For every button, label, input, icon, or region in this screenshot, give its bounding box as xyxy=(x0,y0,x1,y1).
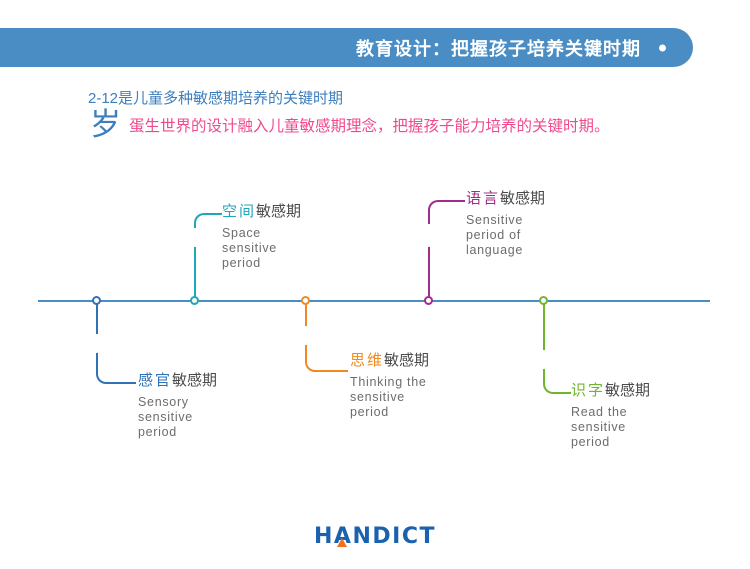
node-2-label-block: 空间敏感期 Space sensitive period xyxy=(222,203,301,271)
node-5-number-badge: 5 xyxy=(534,350,553,369)
node-4-number-badge: 4 xyxy=(419,228,438,247)
node-2-label-en: Space sensitive period xyxy=(222,226,301,271)
logo-triangle-icon xyxy=(337,538,347,547)
page-title: 教育设计：把握孩子培养关键时期 xyxy=(356,35,641,61)
timeline-axis xyxy=(38,300,710,302)
node-1-label-en: Sensory sensitive period xyxy=(138,395,217,440)
intro-row-2: 岁 蛋生世界的设计融入儿童敏感期理念，把握孩子能力培养的关键时期。 xyxy=(90,110,708,140)
infographic-page: 教育设计：把握孩子培养关键时期 2-12是儿童多种敏感期培养的关键时期 岁 蛋生… xyxy=(0,0,750,569)
node-2-label-accent: 空间 xyxy=(222,203,256,220)
node-4-elbow xyxy=(428,200,442,224)
node-3-label-rest: 敏感期 xyxy=(384,352,429,369)
brand-logo-text: HANDICT xyxy=(314,524,436,549)
node-4-runner xyxy=(441,200,465,202)
node-4-number: 4 xyxy=(426,232,432,243)
node-5-runner xyxy=(556,392,571,394)
node-1-label-block: 感官敏感期 Sensory sensitive period xyxy=(138,372,217,440)
node-5-number: 5 xyxy=(541,354,547,365)
node-1-label-rest: 敏感期 xyxy=(172,372,217,389)
node-3-runner xyxy=(318,370,348,372)
node-5-label-cn: 识字敏感期 xyxy=(571,382,650,400)
node-3-label-en: Thinking the sensitive period xyxy=(350,375,429,420)
node-5-elbow xyxy=(543,370,557,394)
node-5-label-rest: 敏感期 xyxy=(605,382,650,399)
node-2-label-rest: 敏感期 xyxy=(256,203,301,220)
intro-line-1: 2-12是儿童多种敏感期培养的关键时期 xyxy=(88,88,708,110)
node-3-label-cn: 思维敏感期 xyxy=(350,352,429,370)
node-2-stem xyxy=(194,240,196,298)
node-1-number-badge: 1 xyxy=(87,334,106,353)
node-3-number-badge: 3 xyxy=(296,326,315,345)
node-1-runner xyxy=(109,382,136,384)
age-unit-label: 岁 xyxy=(90,110,121,140)
node-4-label-block: 语言敏感期 Sensitive period of language xyxy=(466,190,545,258)
node-4-label-rest: 敏感期 xyxy=(500,190,545,207)
node-1-label-accent: 感官 xyxy=(138,372,172,389)
node-2-number-badge: 2 xyxy=(185,228,204,247)
node-1-elbow xyxy=(96,360,110,384)
node-4-label-en: Sensitive period of language xyxy=(466,213,545,258)
intro-line-2: 蛋生世界的设计融入儿童敏感期理念，把握孩子能力培养的关键时期。 xyxy=(129,114,610,140)
header-banner: 教育设计：把握孩子培养关键时期 xyxy=(0,28,693,67)
node-3-elbow xyxy=(305,348,319,372)
node-1-label-cn: 感官敏感期 xyxy=(138,372,217,390)
node-2-number: 2 xyxy=(192,232,198,243)
node-2-runner xyxy=(207,213,222,215)
footer-logo: HANDICT xyxy=(0,524,750,549)
node-3-label-accent: 思维 xyxy=(350,352,384,369)
node-2-label-cn: 空间敏感期 xyxy=(222,203,301,221)
intro-block: 2-12是儿童多种敏感期培养的关键时期 岁 蛋生世界的设计融入儿童敏感期理念，把… xyxy=(88,88,708,140)
node-5-label-accent: 识字 xyxy=(571,382,605,399)
node-3-number: 3 xyxy=(303,330,309,341)
node-5-label-en: Read the sensitive period xyxy=(571,405,650,450)
node-4-label-cn: 语言敏感期 xyxy=(466,190,545,208)
node-5-label-block: 识字敏感期 Read the sensitive period xyxy=(571,382,650,450)
node-1-number: 1 xyxy=(94,338,100,349)
node-4-label-accent: 语言 xyxy=(466,190,500,207)
node-3-label-block: 思维敏感期 Thinking the sensitive period xyxy=(350,352,429,420)
header-dot-icon xyxy=(659,44,666,51)
